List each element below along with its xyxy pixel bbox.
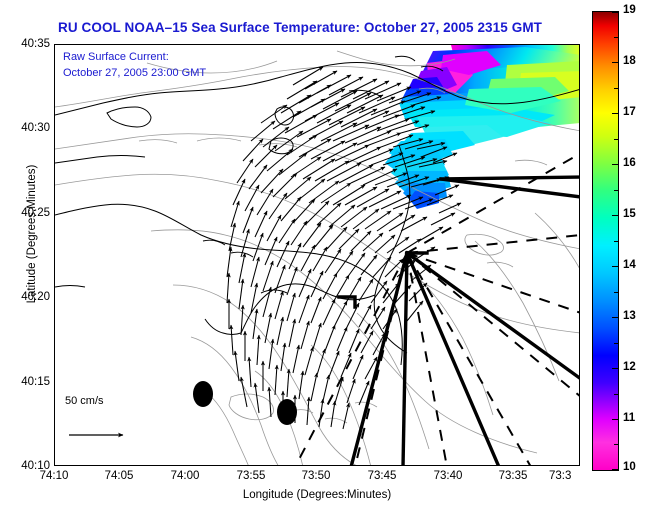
y-axis-label: Latitude (Degrees:Minutes) (26, 154, 38, 314)
x-tick-label: 73:50 (286, 470, 346, 482)
annotation-line-1: Raw Surface Current: (63, 51, 169, 63)
colorbar-tick-label: 16 (623, 157, 636, 169)
x-tick-label: 74:10 (24, 470, 84, 482)
colorbar-tick-label: 10 (623, 461, 636, 473)
annotation-line-2: October 27, 2005 23:00 GMT (63, 67, 206, 79)
colorbar-tick-label: 14 (623, 259, 636, 271)
colorbar-tick-label: 13 (623, 310, 636, 322)
map-canvas (55, 45, 580, 466)
colorbar[interactable] (592, 11, 619, 471)
colorbar-tick-label: 18 (623, 55, 636, 67)
colorbar-tick-label: 15 (623, 208, 636, 220)
station-marker[interactable] (193, 381, 213, 407)
colorbar-tick-label: 19 (623, 4, 636, 16)
station-marker[interactable] (277, 399, 297, 425)
sst-figure: RU COOL NOAA–15 Sea Surface Temperature:… (0, 0, 651, 519)
x-tick-label: 73:40 (418, 470, 478, 482)
x-tick-label: 73:45 (352, 470, 412, 482)
y-tick-label: 40:30 (4, 122, 50, 134)
colorbar-tick-label: 12 (623, 361, 636, 373)
x-tick-label: 73:3 (549, 470, 593, 482)
x-axis-label: Longitude (Degrees:Minutes) (54, 489, 580, 501)
x-tick-label: 74:00 (155, 470, 215, 482)
colorbar-tick-label: 17 (623, 106, 636, 118)
x-tick-label: 73:55 (221, 470, 281, 482)
y-tick-label: 40:15 (4, 376, 50, 388)
radar-bearing-lines-solid (339, 177, 580, 466)
x-tick-label: 74:05 (89, 470, 149, 482)
scalebar-label: 50 cm/s (65, 395, 104, 407)
colorbar-tick-label: 11 (623, 412, 635, 424)
map-plot-area[interactable]: Raw Surface Current: October 27, 2005 23… (54, 44, 580, 466)
figure-title: RU COOL NOAA–15 Sea Surface Temperature:… (0, 20, 600, 35)
x-tick-label: 73:35 (483, 470, 543, 482)
y-tick-label: 40:35 (4, 38, 50, 50)
